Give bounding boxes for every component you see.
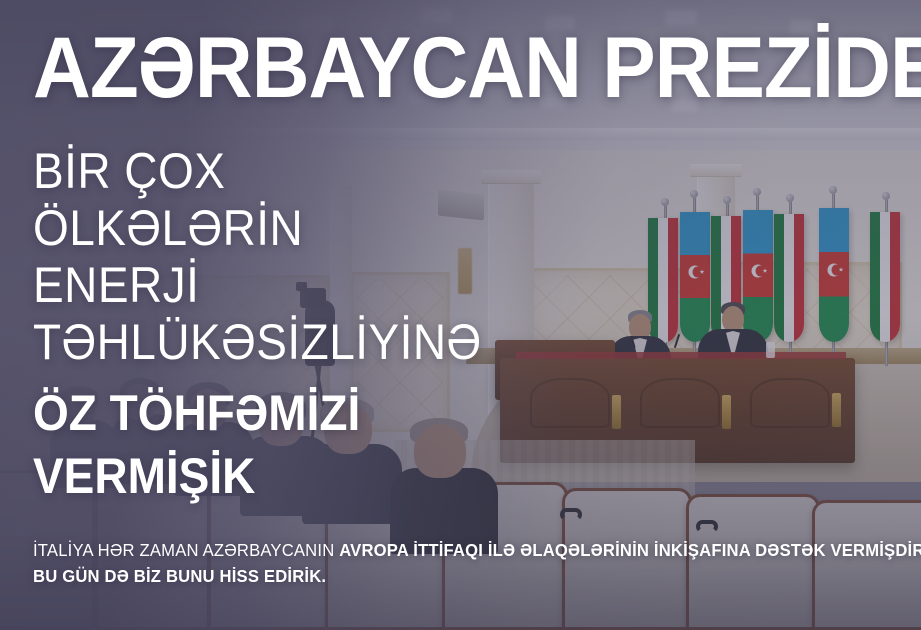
subheadline-line-6: VERMİŞİK — [33, 448, 255, 505]
subheadline-line-4: TƏHLÜKƏSİZLİYİNƏ — [33, 314, 482, 371]
subheadline-line-1: BİR ÇOX — [33, 143, 225, 200]
caption-lead: İTALİYA HƏR ZAMAN AZƏRBAYCANIN — [33, 540, 339, 560]
subheadline-line-2: ÖLKƏLƏRİN — [33, 200, 303, 257]
page-title: AZƏRBAYCAN PREZİDENTİ: — [33, 22, 921, 114]
subheadline-line-5: ÖZ TÖHFƏMİZİ — [33, 385, 360, 442]
caption-line-1: İTALİYA HƏR ZAMAN AZƏRBAYCANIN AVROPA İT… — [33, 537, 850, 563]
caption-line-2: BU GÜN DƏ BİZ BUNU HİSS EDİRİK. — [33, 563, 850, 589]
subheadline-line-3: ENERJİ — [33, 257, 199, 314]
text-layer: AZƏRBAYCAN PREZİDENTİ: BİR ÇOX ÖLKƏLƏRİN… — [0, 0, 921, 630]
news-banner: AZƏRBAYCAN PREZİDENTİ: BİR ÇOX ÖLKƏLƏRİN… — [0, 0, 921, 630]
caption-emphasis: AVROPA İTTİFAQI İLƏ ƏLAQƏLƏRİNİN İNKİŞAF… — [339, 540, 921, 560]
